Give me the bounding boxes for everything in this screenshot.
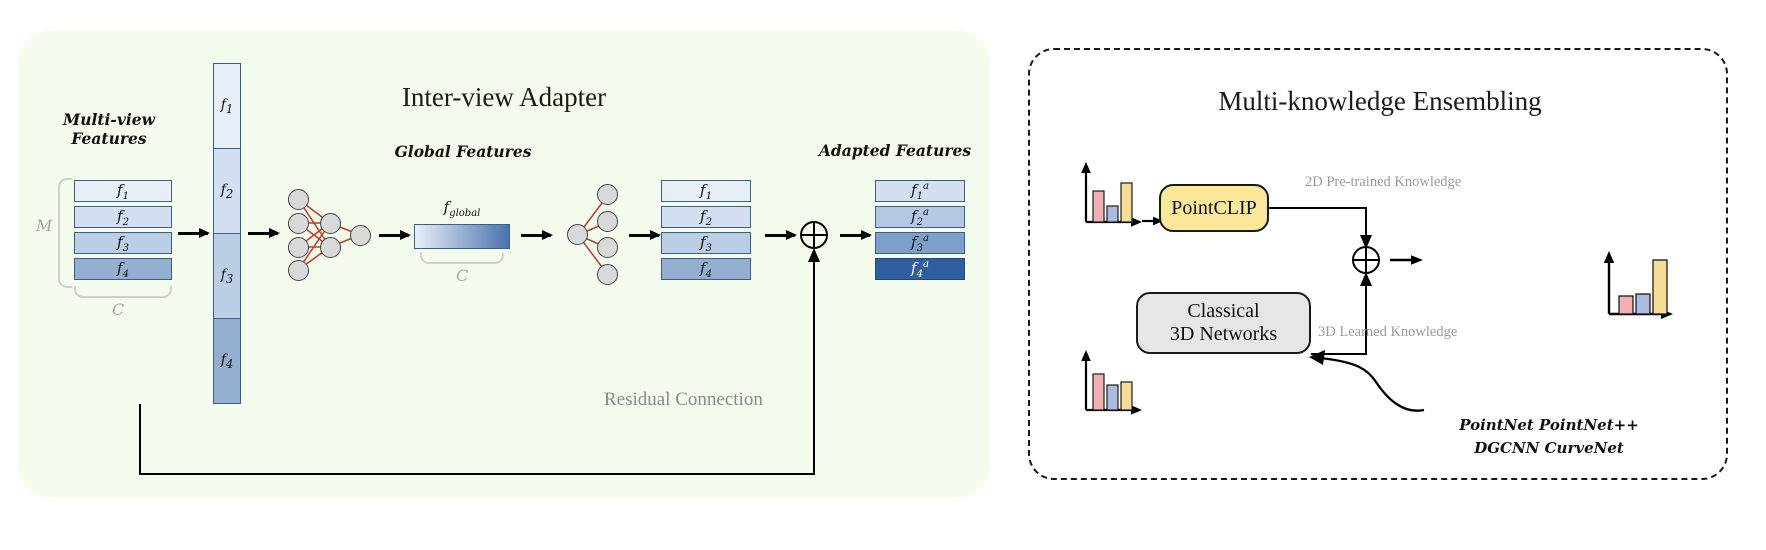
arrow-multiview-to-concat bbox=[178, 232, 208, 235]
adapted-features-caption: Adapted Features bbox=[800, 141, 990, 160]
pre-residual-feature-label-4: f4 bbox=[700, 259, 712, 280]
concat-bar-label-4: f4 bbox=[221, 352, 234, 371]
mlp-encoder-input-node-2 bbox=[288, 213, 309, 234]
adapted-feature-label-4: f4a bbox=[911, 259, 929, 280]
pointclip-label: PointCLIP bbox=[1171, 197, 1257, 220]
c-dimension-label-global: C bbox=[456, 266, 468, 285]
pre-residual-feature-block-2: f2 bbox=[661, 206, 751, 228]
networks-input-chart bbox=[1078, 348, 1144, 416]
concat-bar-label-2: f2 bbox=[221, 182, 234, 201]
global-feature-label: fglobal bbox=[414, 198, 510, 219]
adapted-feature-block-4: f4a bbox=[875, 258, 965, 280]
residual-sum-icon bbox=[800, 221, 828, 249]
pointclip-edge-horizontal bbox=[1269, 207, 1367, 209]
mlp-encoder-input-node-3 bbox=[288, 237, 309, 258]
m-brace bbox=[58, 178, 72, 288]
multi-view-feature-block-1: f1 bbox=[74, 180, 172, 202]
pre-residual-feature-label-3: f3 bbox=[700, 233, 712, 254]
residual-arrowhead-icon bbox=[806, 248, 824, 264]
c-brace-multiview bbox=[74, 286, 172, 298]
concat-bar-segment-3: f3 bbox=[213, 233, 241, 319]
arrow-decoder-to-features bbox=[629, 234, 659, 237]
concat-bar-segment-1: f1 bbox=[213, 63, 241, 149]
adapted-feature-label-2: f2a bbox=[911, 207, 929, 228]
mlp-decoder-input-node bbox=[567, 224, 588, 245]
multi-view-feature-block-4: f4 bbox=[74, 258, 172, 280]
ensemble-output-chart bbox=[1600, 248, 1678, 322]
multi-view-features-caption: Multi-view Features bbox=[44, 110, 174, 149]
arrow-sum-to-adapted bbox=[840, 234, 870, 237]
pointclip-box[interactable]: PointCLIP bbox=[1159, 184, 1269, 232]
concat-bar-segment-2: f2 bbox=[213, 148, 241, 234]
mlp-decoder-output-node-3 bbox=[597, 237, 618, 258]
adapted-feature-label-1: f1a bbox=[911, 181, 929, 202]
mlp-encoder-output-node bbox=[350, 225, 371, 246]
networks-edge-vertical bbox=[1365, 283, 1367, 354]
adapted-feature-block-2: f2a bbox=[875, 206, 965, 228]
mlp-decoder-output-node-1 bbox=[597, 184, 618, 205]
networks-label-line1: Classical bbox=[1170, 300, 1277, 323]
adapted-feature-block-1: f1a bbox=[875, 180, 965, 202]
multi-view-feature-block-2: f2 bbox=[74, 206, 172, 228]
arrow-global-to-decoder bbox=[521, 234, 551, 237]
network-names-list: PointNet PointNet++ DGCNN CurveNet bbox=[1434, 414, 1664, 461]
pretrained-knowledge-label: 2D Pre-trained Knowledge bbox=[1305, 174, 1461, 191]
multi-view-feature-label-2: f2 bbox=[117, 207, 129, 228]
pre-residual-feature-block-1: f1 bbox=[661, 180, 751, 202]
arrow-features-to-sum bbox=[765, 234, 795, 237]
adapted-feature-label-3: f3a bbox=[911, 233, 929, 254]
pointclip-edge-vertical bbox=[1365, 207, 1367, 237]
classical-3d-networks-box[interactable]: Classical 3D Networks bbox=[1136, 292, 1311, 354]
m-dimension-label: M bbox=[36, 216, 52, 235]
mlp-decoder-output-node-4 bbox=[597, 264, 618, 285]
multi-view-feature-label-4: f4 bbox=[117, 259, 129, 280]
networks-callout-arrow-icon bbox=[1296, 348, 1426, 420]
mlp-encoder-hidden-node-1 bbox=[320, 213, 341, 234]
global-feature-bar bbox=[414, 224, 510, 249]
c-dimension-label-multiview: C bbox=[112, 300, 124, 319]
multi-view-feature-block-3: f3 bbox=[74, 232, 172, 254]
arrow-encoder-to-global bbox=[379, 234, 409, 237]
learned-knowledge-label: 3D Learned Knowledge bbox=[1318, 324, 1457, 341]
networks-edge-arrowhead-icon bbox=[1358, 272, 1376, 288]
mlp-encoder-input-node-4 bbox=[288, 260, 309, 281]
residual-line-vertical-right bbox=[813, 262, 815, 475]
pre-residual-feature-block-4: f4 bbox=[661, 258, 751, 280]
networks-label-line2: 3D Networks bbox=[1170, 323, 1277, 346]
residual-connection-label: Residual Connection bbox=[604, 389, 763, 411]
pre-residual-feature-label-1: f1 bbox=[700, 181, 712, 202]
mlp-decoder-output-node-2 bbox=[597, 211, 618, 232]
concat-bar-label-3: f3 bbox=[221, 267, 234, 286]
adapted-feature-block-3: f3a bbox=[875, 232, 965, 254]
mlp-encoder-hidden-node-2 bbox=[320, 237, 341, 258]
ensemble-sum-icon bbox=[1352, 246, 1380, 274]
c-brace-global bbox=[420, 253, 504, 264]
multi-view-feature-label-3: f3 bbox=[117, 233, 129, 254]
pre-residual-feature-block-3: f3 bbox=[661, 232, 751, 254]
concat-bar-label-1: f1 bbox=[221, 97, 234, 116]
ensemble-title: Multi-knowledge Ensembling bbox=[1030, 86, 1730, 117]
arrow-concat-to-encoder bbox=[248, 232, 278, 235]
arrow-sum-to-output-icon bbox=[1390, 253, 1424, 267]
global-features-caption: Global Features bbox=[380, 142, 546, 161]
network-names-line1: PointNet PointNet++ bbox=[1434, 414, 1664, 437]
concat-bar-segment-4: f4 bbox=[213, 318, 241, 404]
pre-residual-feature-label-2: f2 bbox=[700, 207, 712, 228]
residual-line-vertical-left bbox=[139, 404, 141, 475]
multi-view-feature-label-1: f1 bbox=[117, 181, 129, 202]
multi-view-caption-line1: Multi-view bbox=[44, 110, 174, 129]
multi-view-caption-line2: Features bbox=[44, 129, 174, 148]
adapter-title: Inter-view Adapter bbox=[18, 82, 990, 113]
pointclip-input-chart bbox=[1078, 160, 1144, 228]
mlp-encoder-input-node-1 bbox=[288, 189, 309, 210]
residual-line-horizontal bbox=[139, 473, 815, 475]
figure-canvas: Inter-view Adapter Multi-view Features M… bbox=[0, 0, 1766, 550]
network-names-line2: DGCNN CurveNet bbox=[1434, 437, 1664, 460]
